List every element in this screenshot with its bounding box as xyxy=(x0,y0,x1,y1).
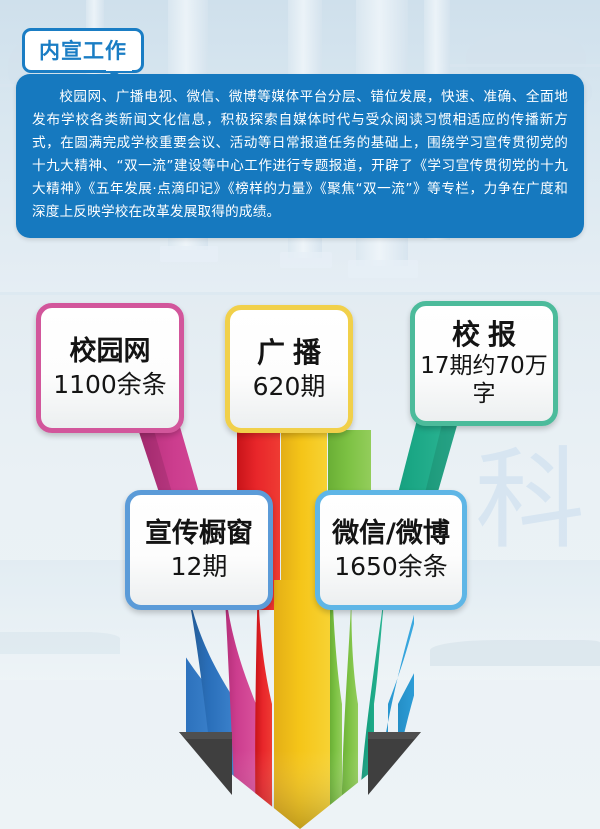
stat-card-value: 12期 xyxy=(171,552,228,582)
stat-card-campus-network[interactable]: 校园网 1100余条 xyxy=(36,303,184,433)
arrow-head-left-wing xyxy=(179,732,232,795)
stat-card-title: 校报 xyxy=(444,318,524,351)
bg-railing xyxy=(440,64,600,67)
stat-card-broadcast[interactable]: 广播 620期 xyxy=(225,305,353,433)
stat-card-title: 宣传橱窗 xyxy=(145,518,253,550)
infographic-canvas: 科 xyxy=(0,0,600,829)
stat-card-display-window[interactable]: 宣传橱窗 12期 xyxy=(125,490,273,610)
arrow-head-right-wing xyxy=(368,732,421,795)
stat-card-wechat-weibo[interactable]: 微信/微博 1650余条 xyxy=(315,490,467,610)
stat-card-value: 620期 xyxy=(253,372,326,402)
stat-card-value: 1650余条 xyxy=(334,552,448,582)
stat-card-value: 1100余条 xyxy=(53,370,167,400)
stat-card-title: 广播 xyxy=(249,336,329,369)
bg-pillar-base xyxy=(160,246,218,262)
description-paragraph: 校园网、广播电视、微信、微博等媒体平台分层、错位发展，快速、准确、全面地发布学校… xyxy=(32,86,568,224)
arrow-bands xyxy=(150,580,600,829)
stat-card-value: 17期约70万字 xyxy=(415,353,553,408)
bg-pillar-base xyxy=(348,260,418,278)
description-panel: 校园网、广播电视、微信、微博等媒体平台分层、错位发展，快速、准确、全面地发布学校… xyxy=(16,74,584,238)
section-badge: 内宣工作 xyxy=(22,28,144,73)
stat-card-title: 校园网 xyxy=(70,336,151,368)
badge-label: 内宣工作 xyxy=(39,39,127,63)
stat-card-school-newspaper[interactable]: 校报 17期约70万字 xyxy=(410,301,558,426)
bg-pillar-base xyxy=(280,252,332,268)
stat-card-title: 微信/微博 xyxy=(332,518,450,550)
